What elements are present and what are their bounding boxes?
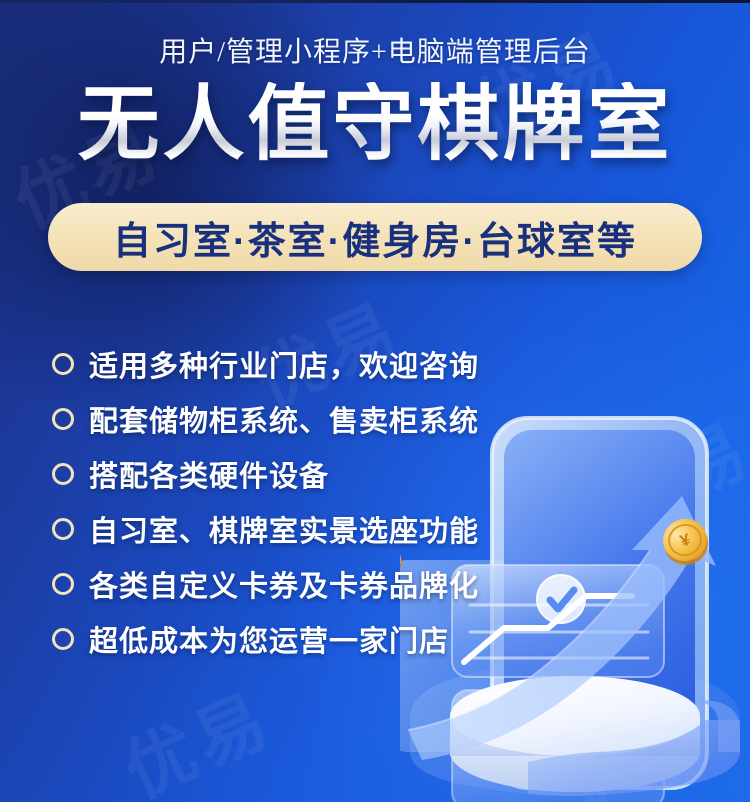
category-badge-label: 自习室·茶室·健身房·台球室等	[113, 210, 637, 265]
promo-banner: 优易 优易 优易 优易 优易 优易	[0, 0, 750, 802]
category-badge: 自习室·茶室·健身房·台球室等	[48, 203, 702, 271]
feature-list: 适用多种行业门店，欢迎咨询 配套储物柜系统、售卖柜系统 搭配各类硬件设备 自习室…	[52, 341, 479, 671]
feature-label: 各类自定义卡券及卡券品牌化	[89, 563, 479, 605]
feature-item: 适用多种行业门店，欢迎咨询	[52, 341, 479, 387]
feature-label: 配套储物柜系统、售卖柜系统	[89, 398, 479, 440]
feature-item: 配套储物柜系统、售卖柜系统	[52, 396, 479, 442]
feature-label: 适用多种行业门店，欢迎咨询	[89, 343, 479, 385]
bullet-ring-icon	[52, 628, 74, 650]
feature-item: 超低成本为您运营一家门店	[52, 616, 479, 662]
bullet-ring-icon	[52, 463, 74, 485]
banner-title: 无人值守棋牌室	[0, 82, 750, 168]
feature-item: 搭配各类硬件设备	[52, 451, 479, 497]
bullet-ring-icon	[52, 518, 74, 540]
feature-item: 自习室、棋牌室实景选座功能	[52, 506, 479, 552]
top-edge-strip	[0, 0, 750, 3]
banner-subtitle: 用户/管理小程序+电脑端管理后台	[0, 30, 750, 70]
podium-base	[450, 676, 700, 792]
bullet-ring-icon	[52, 573, 74, 595]
check-circle	[537, 575, 585, 623]
bullet-ring-icon	[52, 408, 74, 430]
feature-label: 搭配各类硬件设备	[89, 453, 329, 495]
bullet-ring-icon	[52, 353, 74, 375]
feature-item: 各类自定义卡券及卡券品牌化	[52, 561, 479, 607]
feature-label: 自习室、棋牌室实景选座功能	[89, 508, 479, 550]
chart-card	[452, 565, 664, 677]
feature-label: 超低成本为您运营一家门店	[89, 618, 449, 660]
